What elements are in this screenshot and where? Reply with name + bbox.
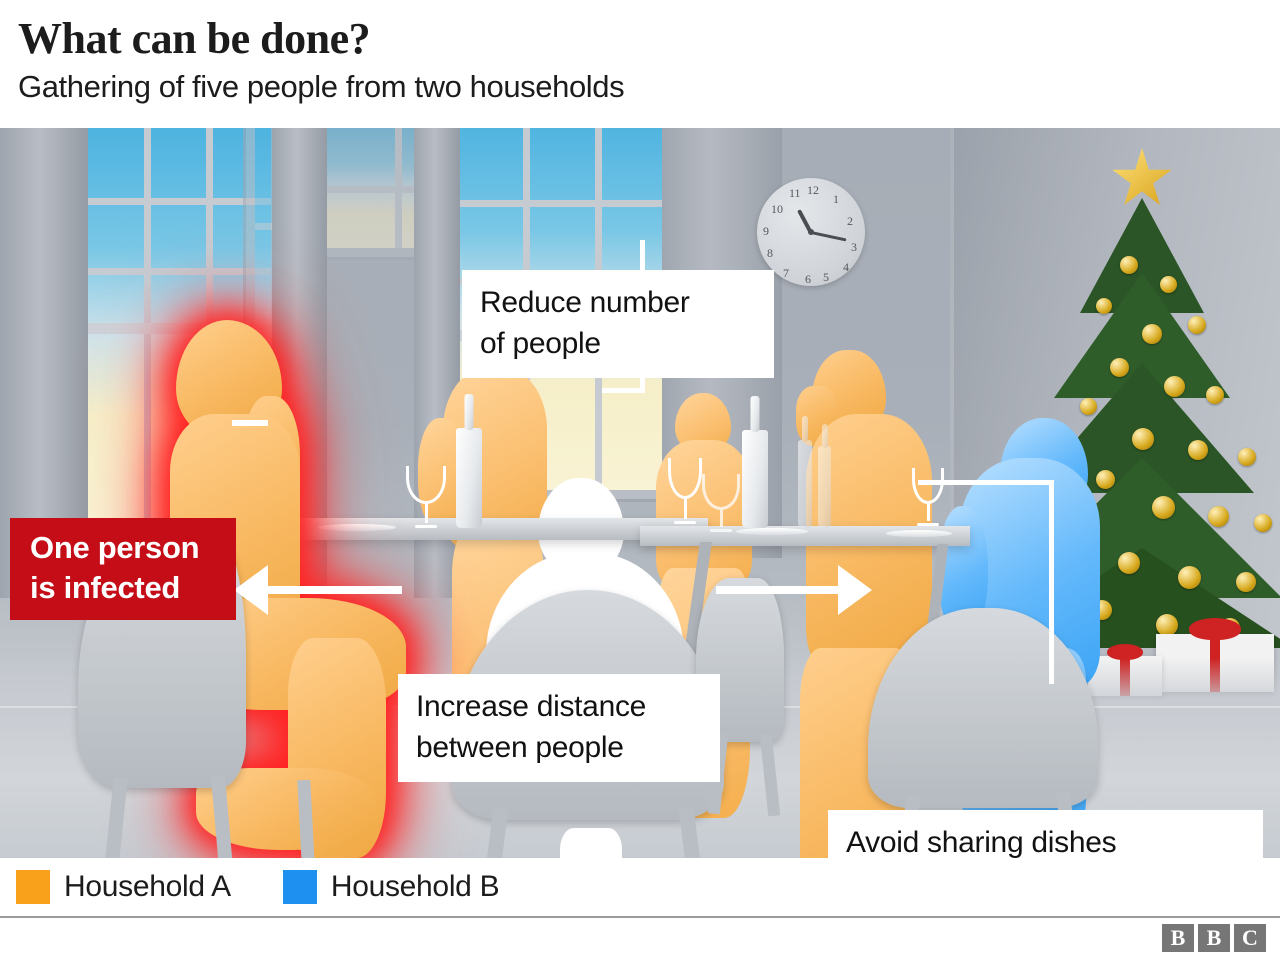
plate [886, 530, 952, 537]
clock-number: 4 [843, 260, 849, 275]
leader-line-reduce-horizontal [602, 388, 645, 393]
legend-item-household-b: Household B [283, 870, 499, 904]
bbc-letter-1: B [1162, 924, 1194, 952]
plate [736, 528, 808, 535]
legend: Household A Household B [0, 858, 1280, 916]
scene-illustration: 12 1 2 3 4 5 6 7 8 9 10 11 [0, 128, 1280, 858]
leader-line-dishes-vertical [1049, 480, 1054, 684]
callout-distance-line-2: between people [416, 727, 702, 768]
clock-number: 12 [807, 183, 819, 198]
legend-swatch-household-b [283, 870, 317, 904]
callout-reduce-number-of-people[interactable]: Reduce number of people [462, 270, 774, 378]
water-bottle [798, 440, 812, 528]
clock-number: 11 [789, 186, 801, 201]
wine-glass [406, 466, 446, 528]
clock-number: 8 [767, 246, 773, 261]
wine-bottle [456, 428, 482, 528]
page-title: What can be done? [18, 14, 1280, 64]
clock-number: 2 [847, 214, 853, 229]
callout-infected-line-2: is infected [30, 568, 220, 608]
clock-hub [808, 229, 814, 235]
page-subtitle: Gathering of five people from two househ… [18, 68, 1280, 106]
wine-glass [912, 468, 944, 526]
callout-infected-line-1: One person [30, 528, 220, 568]
callout-distance-line-1: Increase distance [416, 686, 702, 727]
callout-reduce-line-1: Reduce number [480, 282, 756, 323]
bbc-logo: B B C [1158, 924, 1266, 952]
bbc-letter-3: C [1234, 924, 1266, 952]
footer-divider [0, 916, 1280, 918]
callout-one-person-is-infected[interactable]: One person is infected [10, 518, 236, 620]
bbc-letter-2: B [1198, 924, 1230, 952]
legend-swatch-household-a [16, 870, 50, 904]
clock-number: 9 [763, 224, 769, 239]
callout-dishes-line-1: Avoid sharing dishes [846, 822, 1245, 858]
clock-minute-hand [811, 231, 847, 241]
wine-bottle [742, 430, 768, 528]
clock-number: 3 [851, 240, 857, 255]
leader-line-dishes-horizontal [918, 480, 1054, 485]
water-bottle [818, 446, 831, 528]
header: What can be done? Gathering of five peop… [0, 0, 1280, 128]
infographic-page: What can be done? Gathering of five peop… [0, 0, 1280, 960]
callout-increase-distance[interactable]: Increase distance between people [398, 674, 720, 782]
callout-reduce-line-2: of people [480, 323, 756, 364]
clock-number: 6 [805, 272, 811, 287]
legend-item-household-a: Household A [16, 870, 231, 904]
clock-number: 7 [783, 266, 789, 281]
legend-label-household-a: Household A [64, 870, 231, 904]
wine-glass [702, 474, 740, 532]
legend-label-household-b: Household B [331, 870, 499, 904]
plate [318, 524, 396, 531]
clock-number: 1 [833, 192, 839, 207]
callout-avoid-sharing-dishes[interactable]: Avoid sharing dishes and cutlery. If pos… [828, 810, 1263, 858]
clock-number: 10 [771, 202, 783, 217]
clock-number: 5 [823, 270, 829, 285]
leader-line-infected [232, 420, 268, 426]
wine-glass [668, 458, 702, 524]
